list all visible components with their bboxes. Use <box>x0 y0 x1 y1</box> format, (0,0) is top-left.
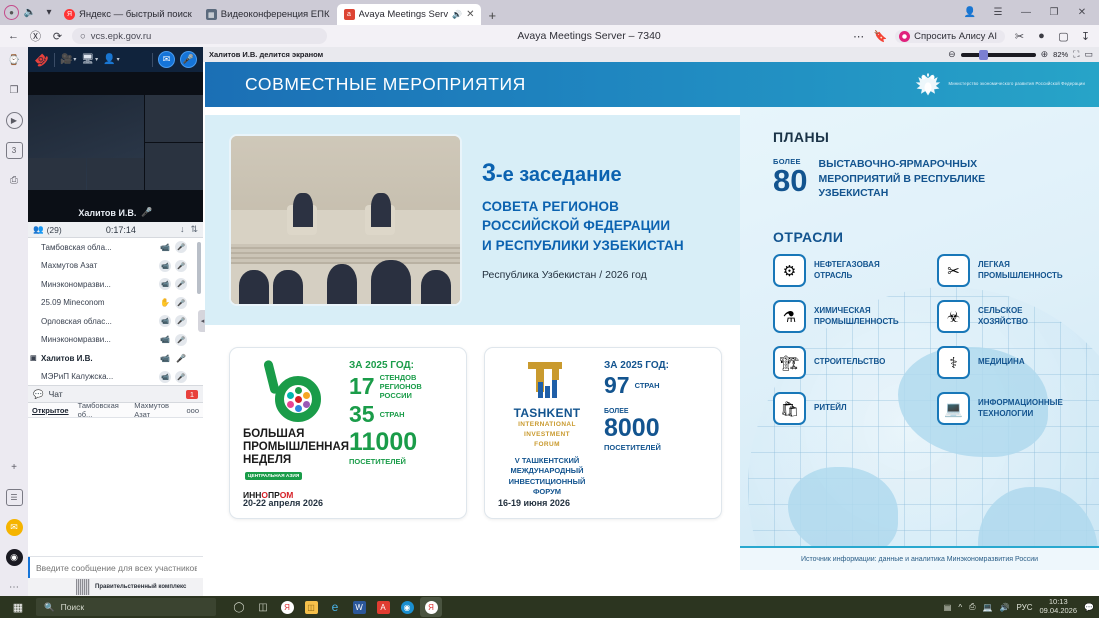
collections-icon[interactable]: ▢ <box>1056 30 1071 43</box>
sidebar-more-icon[interactable]: ⋯ <box>6 579 23 596</box>
participant-list[interactable]: Тамбовская обла... 📹 🎤 Махмутов Азат 📹 🎤… <box>28 238 203 386</box>
chat-tab-1[interactable]: Тамбовская об... <box>78 401 126 419</box>
mute-tab-icon[interactable]: 🔈 <box>22 5 38 21</box>
slide-right-column: ПЛАНЫ БОЛЕЕ 80 ВЫСТАВОЧНО-ЯРМАРОЧНЫХ МЕР… <box>740 107 1099 570</box>
session-title: СОВЕТА РЕГИОНОВ РОССИЙСКОЙ ФЕДЕРАЦИИ И Р… <box>482 197 728 256</box>
internet-explorer-icon[interactable]: e <box>324 597 346 617</box>
chat-messages <box>28 418 203 556</box>
chat-toggle-button[interactable]: ✉ <box>158 51 175 68</box>
screen-share-bar: Халитов И.В. делится экраном ⊖ ⊕ 82% ⛶ ▭ <box>203 47 1099 62</box>
camera-icon: 📹 <box>159 260 171 272</box>
branch-item: ⚙ НЕФТЕГАЗОВАЯ ОТРАСЛЬ <box>773 254 929 287</box>
list-item-self[interactable]: ▣ Халитов И.В. 📹 🎤 <box>28 349 203 368</box>
video-tile-2[interactable] <box>145 95 203 142</box>
construction-icon: 🏗 <box>773 346 806 379</box>
screen-share-control[interactable]: 🖥 ▾ <box>81 54 98 65</box>
innoprom-badge: ЦЕНТРАЛЬНАЯ АЗИЯ <box>245 472 302 480</box>
ministry-name: Министерство экономического развития Рос… <box>949 81 1085 87</box>
camera-icon: 📹 <box>159 371 171 383</box>
stat-number: 11000 <box>349 429 456 457</box>
search-icon: 🔍 <box>44 602 55 613</box>
mic-icon: 🎤 <box>175 260 187 272</box>
address-bar[interactable]: ○ vcs.epk.gov.ru <box>72 28 327 44</box>
browser-tab-1[interactable]: ▦ Видеоконференция ЕПК <box>199 4 337 25</box>
stat-row: 11000 ПОСЕТИТЕЛЕЙ <box>349 429 456 466</box>
branch-item: ⚗ ХИМИЧЕСКАЯ ПРОМЫШЛЕННОСТЬ <box>773 300 929 333</box>
profile-avatar[interactable]: ● <box>4 5 19 20</box>
chat-input[interactable] <box>28 557 203 578</box>
mic-toggle-button[interactable]: 🎤 <box>180 51 197 68</box>
branch-label: РИТЕЙЛ <box>814 403 847 413</box>
branch-item: 💻 ИНФОРМАЦИОННЫЕ ТЕХНОЛОГИИ <box>937 392 1093 425</box>
stat-number: 8000 <box>604 415 711 443</box>
yandex-browser-active-icon[interactable]: Я <box>420 597 442 617</box>
gov-emblem-icon <box>76 579 90 595</box>
list-item[interactable]: Орловская облас... 📹 🎤 <box>28 312 203 331</box>
event-date: 16-19 июня 2026 <box>498 498 570 508</box>
event-card-innoprom: БОЛЬШАЯ ПРОМЫШЛЕННАЯ НЕДЕЛЯ ЦЕНТРАЛЬНАЯ … <box>229 347 467 519</box>
roster-scrollbar[interactable] <box>197 242 201 294</box>
tashkent-logo-sub: INTERNATIONAL INVESTMENT FORUM <box>498 420 596 449</box>
list-item[interactable]: Минэкономразви... 📹 🎤 <box>28 275 203 294</box>
hangup-icon[interactable]: ☎ <box>31 49 51 69</box>
taskbar-search[interactable]: 🔍 Поиск <box>36 598 216 616</box>
browser-tab-bar: ● 🔈 ▾ Я Яндекс — быстрый поиск ▦ Видеоко… <box>0 0 1099 25</box>
tab-count-icon[interactable]: 3 <box>6 142 23 159</box>
list-item[interactable]: 25.09 Mineconom ✋ 🎤 <box>28 294 203 313</box>
yandex-home-icon[interactable]: Ⓧ <box>28 28 43 44</box>
stat-row: 97 СТРАН <box>604 373 711 398</box>
participant-count-label: (29) <box>47 225 62 235</box>
source-note: Источник информации: данные и аналитика … <box>740 546 1099 570</box>
clock-date: 09.04.2026 <box>1039 606 1077 615</box>
tashkent-title-ru: V ТАШКЕНТСКИЙ МЕЖДУНАРОДНЫЙ ИНВЕСТИЦИОНН… <box>498 456 596 497</box>
chemistry-icon: ⚗ <box>773 300 806 333</box>
tashkent-forum-logo: TASHKENT INTERNATIONAL INVESTMENT FORUM … <box>498 360 596 497</box>
innoprom-logo: БОЛЬШАЯ ПРОМЫШЛЕННАЯ НЕДЕЛЯ ЦЕНТРАЛЬНАЯ … <box>243 360 341 500</box>
browser-sidebar: ⌚ ❐ ▶ 3 ⎙ + ☰ ✉ ◉ ⋯ <box>0 47 28 596</box>
double-eagle-icon <box>914 71 942 99</box>
chat-tab-2[interactable]: Махмутов Азат <box>134 401 177 419</box>
camera-icon: 📹 <box>159 334 171 346</box>
gov-complex-popup[interactable]: Правительственный комплекс <box>28 578 203 596</box>
innoprom-stats: ЗА 2025 ГОД: 17 СТЕНДОВ РЕГИОНОВ РОССИИ … <box>349 360 456 500</box>
list-item[interactable]: МЭРиП Калужска... 📹 🎤 <box>28 368 203 387</box>
word-icon[interactable]: W <box>348 597 370 617</box>
camera-icon: 📹 <box>159 241 171 253</box>
plans-section: ПЛАНЫ БОЛЕЕ 80 ВЫСТАВОЧНО-ЯРМАРОЧНЫХ МЕР… <box>740 107 1099 201</box>
stat-row: БОЛЕЕ 8000 ПОСЕТИТЕЛЕЙ <box>604 408 711 452</box>
slide-header: СОВМЕСТНЫЕ МЕРОПРИЯТИЯ Министерство экон… <box>205 62 1099 107</box>
chat-unread-badge: 1 <box>186 390 198 399</box>
list-item[interactable]: Махмутов Азат 📹 🎤 <box>28 257 203 276</box>
language-indicator[interactable]: РУС <box>1016 603 1032 612</box>
mail-icon[interactable]: ✉ <box>6 519 23 536</box>
camera-icon: 🎥 <box>60 54 72 65</box>
browser-tab-2[interactable]: a Avaya Meetings Serv 🔊 ✕ <box>337 4 482 25</box>
browser-tab-0[interactable]: Я Яндекс — быстрый поиск <box>57 4 199 25</box>
new-tab-button[interactable]: + <box>481 8 503 25</box>
mic-icon: 🎤 <box>141 207 152 218</box>
zoom-slider[interactable] <box>961 53 1036 57</box>
nav-right-controls: ⋯ 🔖 Спросить Алису AI ✂ ● ▢ ↧ <box>851 30 1093 43</box>
clock[interactable]: 10:13 09.04.2026 <box>1039 598 1077 615</box>
page-title: Avaya Meetings Server – 7340 <box>334 30 844 42</box>
stat-row: 17 СТЕНДОВ РЕГИОНОВ РОССИИ <box>349 373 456 400</box>
system-tray: ▤ ^ ⎙ 💻 🔊 РУС 10:13 09.04.2026 💬 <box>944 598 1099 615</box>
retail-icon: 🛍 <box>773 392 806 425</box>
event-cards: БОЛЬШАЯ ПРОМЫШЛЕННАЯ НЕДЕЛЯ ЦЕНТРАЛЬНАЯ … <box>205 325 740 519</box>
browser-tab-2-label: Avaya Meetings Serv <box>359 9 449 20</box>
window-controls: 👤 ☰ — ❐ ✕ <box>957 0 1099 25</box>
session-place-year: Республика Узбекистан / 2026 год <box>482 269 728 281</box>
mic-icon: 🎤 <box>175 297 187 309</box>
plans-number: 80 <box>773 166 807 195</box>
close-icon[interactable]: ✕ <box>466 9 474 20</box>
maximize-button[interactable]: ❐ <box>1041 2 1067 24</box>
tab-bar-left-controls: ● 🔈 ▾ <box>0 0 57 25</box>
url-text: vcs.epk.gov.ru <box>91 31 152 42</box>
branch-item: ✂ ЛЕГКАЯ ПРОМЫШЛЕННОСТЬ <box>937 254 1093 287</box>
branch-label: ИНФОРМАЦИОННЫЕ ТЕХНОЛОГИИ <box>978 398 1063 419</box>
alice-button[interactable]: Спросить Алису AI <box>895 30 1005 43</box>
taskbar-apps: ◯ ◫ Я ◫ e W A ◉ Я <box>228 597 442 617</box>
fit-screen-icon[interactable]: ⛶ <box>1073 49 1079 60</box>
stat-label: СТРАН <box>380 410 405 419</box>
session-photo <box>229 134 462 306</box>
tashkent-mark-icon <box>516 360 578 402</box>
downloads-icon[interactable]: ↧ <box>1078 30 1093 43</box>
branch-item: ☣ СЕЛЬСКОЕ ХОЗЯЙСТВО <box>937 300 1093 333</box>
video-play-icon[interactable]: ▶ <box>6 112 23 129</box>
chevron-down-icon: ▾ <box>117 56 120 63</box>
yandex-icon: Я <box>64 9 75 20</box>
branch-label: НЕФТЕГАЗОВАЯ ОТРАСЛЬ <box>814 260 880 281</box>
session-number-suffix: -е заседание <box>496 164 622 186</box>
zoom-slider-thumb[interactable] <box>979 50 988 60</box>
video-tile-5[interactable] <box>87 158 145 190</box>
browser-tab-0-label: Яндекс — быстрый поиск <box>79 9 192 20</box>
participants-control[interactable]: 👤 ▾ <box>103 54 119 65</box>
video-stage[interactable]: Халитов И.В. 🎤 <box>28 72 203 222</box>
session-headline: 3-е заседание СОВЕТА РЕГИОНОВ РОССИЙСКОЙ… <box>482 159 728 282</box>
ministry-logo: Министерство экономического развития Рос… <box>914 71 1085 99</box>
alice-assistant-icon[interactable]: ◉ <box>6 549 23 566</box>
chat-input-wrap <box>28 556 203 578</box>
raise-hand-icon: ✋ <box>159 297 171 309</box>
site-info-icon: ○ <box>80 31 86 42</box>
branch-label: СЕЛЬСКОЕ ХОЗЯЙСТВО <box>978 306 1028 327</box>
stat-label: ПОСЕТИТЕЛЕЙ <box>349 457 456 466</box>
avaya-icon: a <box>344 9 355 20</box>
roster-header: 👥 (29) 0:17:14 ↓ ⇅ <box>28 222 203 238</box>
participant-name: Орловская облас... <box>41 317 155 326</box>
self-marker-icon: ▣ <box>30 354 37 362</box>
chevron-down-icon: ▾ <box>95 56 98 63</box>
share-notice: Халитов И.В. делится экраном <box>209 50 323 59</box>
stat-row: 35 СТРАН <box>349 402 456 427</box>
session-number: 3 <box>482 159 496 187</box>
participant-name: МЭРиП Калужска... <box>41 372 155 381</box>
fullscreen-icon[interactable]: ▭ <box>1084 49 1093 60</box>
chat-icon: 💬 <box>33 389 44 400</box>
session-number-line: 3-е заседание <box>482 159 728 188</box>
participants-icon: 👥 <box>33 224 44 235</box>
alice-label: Спросить Алису AI <box>914 31 997 42</box>
screen: ● 🔈 ▾ Я Яндекс — быстрый поиск ▦ Видеоко… <box>0 0 1099 618</box>
tray-screen-icon[interactable]: ⎙ <box>969 602 975 612</box>
zoom-in-icon[interactable]: ⊕ <box>1041 49 1049 60</box>
camera-icon: 📹 <box>159 315 171 327</box>
slide-left-column: 3-е заседание СОВЕТА РЕГИОНОВ РОССИЙСКОЙ… <box>205 107 740 570</box>
edge-icon[interactable]: ◉ <box>396 597 418 617</box>
participant-name: Минэкономразви... <box>41 335 155 344</box>
branch-label: ХИМИЧЕСКАЯ ПРОМЫШЛЕННОСТЬ <box>814 306 899 327</box>
stat-number: 97 <box>604 373 630 398</box>
list-item[interactable]: Минэкономразви... 📹 🎤 <box>28 331 203 350</box>
chat-title: Чат <box>49 389 63 399</box>
sewing-machine-icon: ✂ <box>937 254 970 287</box>
event-date: 20-22 апреля 2026 <box>243 498 323 508</box>
yandex-browser-icon[interactable]: Я <box>276 597 298 617</box>
history-icon[interactable]: ⌚ <box>6 52 23 69</box>
tab-audio-icon[interactable]: 🔊 <box>452 10 462 19</box>
meeting-toolbar: ☎ 🎥 ▾ 🖥 ▾ 👤 ▾ ✉ 🎤 <box>28 47 203 72</box>
notes-icon[interactable]: ☰ <box>6 489 23 506</box>
search-placeholder: Поиск <box>61 602 85 612</box>
mic-icon: 🎤 <box>175 278 187 290</box>
chevron-down-icon: ▾ <box>73 56 76 63</box>
branch-item: 🛍 РИТЕЙЛ <box>773 392 929 425</box>
participant-name: Халитов И.В. <box>41 354 155 363</box>
reload-icon[interactable]: ⟳ <box>50 30 65 43</box>
video-tile-4[interactable] <box>28 158 86 190</box>
notifications-icon[interactable]: 💬 <box>1084 603 1094 612</box>
sort-icon[interactable]: ⇅ <box>190 224 198 235</box>
stat-label: СТЕНДОВ РЕГИОНОВ РОССИИ <box>380 373 422 400</box>
tabs-stack-icon[interactable]: ❐ <box>6 82 23 99</box>
video-tile-6[interactable] <box>145 158 203 190</box>
agriculture-icon: ☣ <box>937 300 970 333</box>
camera-icon: 📹 <box>159 278 171 290</box>
tab-list-chevron-icon[interactable]: ▾ <box>41 5 57 21</box>
chat-tab-more[interactable]: ооо <box>186 406 199 415</box>
gov-complex-label: Правительственный комплекс <box>95 584 186 591</box>
mic-icon: 🎤 <box>175 352 187 364</box>
shield-icon[interactable]: ● <box>1034 30 1049 42</box>
branch-label: ЛЕГКАЯ ПРОМЫШЛЕННОСТЬ <box>978 260 1063 281</box>
it-icon: 💻 <box>937 392 970 425</box>
account-icon[interactable]: 👤 <box>957 2 983 24</box>
more-options-icon[interactable]: ⋯ <box>851 30 866 43</box>
share-zoom-controls: ⊖ ⊕ 82% ⛶ ▭ <box>948 49 1093 60</box>
participant-name: Минэкономразви... <box>41 280 155 289</box>
mic-icon: 🎤 <box>175 315 187 327</box>
participant-icon: 👤 <box>103 54 115 65</box>
session-block: 3-е заседание СОВЕТА РЕГИОНОВ РОССИЙСКОЙ… <box>205 115 740 325</box>
branch-item: ⚕ МЕДИЦИНА <box>937 346 1093 379</box>
list-item[interactable]: Тамбовская обла... 📹 🎤 <box>28 238 203 257</box>
branches-grid: ⚙ НЕФТЕГАЗОВАЯ ОТРАСЛЬ ✂ ЛЕГКАЯ ПРОМЫШЛЕ… <box>773 254 1093 425</box>
mic-icon: 🎤 <box>175 241 187 253</box>
scissors-icon[interactable]: ✂ <box>1012 30 1027 43</box>
active-speaker-bar: Халитов И.В. 🎤 <box>28 207 203 218</box>
stat-number: 35 <box>349 402 375 427</box>
file-explorer-icon[interactable]: ◫ <box>300 597 322 617</box>
stat-label: ПОСЕТИТЕЛЕЙ <box>604 443 711 452</box>
mic-icon: 🎤 <box>175 371 187 383</box>
screenshot-icon[interactable]: ⎙ <box>6 172 23 189</box>
bookmark-icon[interactable]: 🔖 <box>873 30 888 43</box>
camera-control[interactable]: 🎥 ▾ <box>60 54 76 65</box>
tray-app-icon[interactable]: ▤ <box>944 603 952 612</box>
tashkent-stats: ЗА 2025 ГОД: 97 СТРАН БОЛЕЕ 8000 ПОСЕТИТ… <box>604 360 711 497</box>
tashkent-logo-title: TASHKENT <box>498 406 596 420</box>
menu-icon[interactable]: ☰ <box>985 2 1011 24</box>
active-speaker-name: Халитов И.В. <box>78 208 136 218</box>
stat-heading: ЗА 2025 ГОД: <box>349 360 456 371</box>
plans-heading: ПЛАНЫ <box>773 129 1085 145</box>
innoprom-title: БОЛЬШАЯ ПРОМЫШЛЕННАЯ НЕДЕЛЯ <box>243 428 341 468</box>
chat-icon: ✉ <box>163 54 171 65</box>
participant-name: Тамбовская обла... <box>41 243 155 252</box>
acrobat-icon[interactable]: A <box>372 597 394 617</box>
filter-icon[interactable]: ↓ <box>180 224 185 235</box>
windows-start-icon[interactable]: ▦ <box>0 596 36 618</box>
volume-icon[interactable]: 🔊 <box>999 603 1009 612</box>
browser-tab-1-label: Видеоконференция ЕПК <box>221 9 330 20</box>
task-view-icon[interactable]: ◫ <box>252 597 274 617</box>
chat-tabs: Открытое Тамбовская об... Махмутов Азат … <box>28 403 203 418</box>
plans-text: ВЫСТАВОЧНО-ЯРМАРОЧНЫХ МЕРОПРИЯТИЙ В РЕСП… <box>818 157 985 201</box>
cortana-icon[interactable]: ◯ <box>228 597 250 617</box>
slide-title: СОВМЕСТНЫЕ МЕРОПРИЯТИЯ <box>245 74 526 95</box>
branch-label: МЕДИЦИНА <box>978 357 1025 367</box>
participant-count: 👥 (29) <box>33 224 62 235</box>
video-row-bottom <box>28 158 203 190</box>
mic-icon: 🎤 <box>183 54 194 65</box>
screen-share-icon: 🖥 <box>81 54 94 65</box>
branches-heading: ОТРАСЛИ <box>773 229 1099 245</box>
meeting-timer: 0:17:14 <box>62 225 180 235</box>
stat-number: 17 <box>349 374 375 399</box>
presentation-slide: СОВМЕСТНЫЕ МЕРОПРИЯТИЯ Министерство экон… <box>205 62 1099 570</box>
stat-heading: ЗА 2025 ГОД: <box>604 360 711 371</box>
document-icon: ▦ <box>206 9 217 20</box>
meeting-panel: ☎ 🎥 ▾ 🖥 ▾ 👤 ▾ ✉ 🎤 <box>28 47 203 596</box>
branch-item: 🏗 СТРОИТЕЛЬСТВО <box>773 346 929 379</box>
zoom-level-label: 82% <box>1053 50 1068 59</box>
minimize-button[interactable]: — <box>1013 2 1039 24</box>
close-window-button[interactable]: ✕ <box>1069 2 1095 24</box>
show-hidden-icons-icon[interactable]: ^ <box>958 603 962 612</box>
windows-taskbar: ▦ 🔍 Поиск ◯ ◫ Я ◫ e W A ◉ Я ▤ ^ ⎙ 💻 🔊 РУ… <box>0 596 1099 618</box>
zoom-out-icon[interactable]: ⊖ <box>948 49 956 60</box>
participant-name: Махмутов Азат <box>41 261 155 270</box>
network-icon[interactable]: 💻 <box>983 603 993 612</box>
back-icon[interactable]: ← <box>6 30 21 42</box>
branch-label: СТРОИТЕЛЬСТВО <box>814 357 885 367</box>
medicine-icon: ⚕ <box>937 346 970 379</box>
add-service-icon[interactable]: + <box>6 459 23 476</box>
oil-gas-icon: ⚙ <box>773 254 806 287</box>
camera-icon: 📹 <box>159 352 171 364</box>
browser-nav-bar: ← Ⓧ ⟳ ○ vcs.epk.gov.ru Avaya Meetings Se… <box>0 25 1099 47</box>
chat-tab-open[interactable]: Открытое <box>32 406 69 415</box>
stat-label: СТРАН <box>635 381 660 390</box>
slide-body: 3-е заседание СОВЕТА РЕГИОНОВ РОССИЙСКОЙ… <box>205 107 1099 570</box>
mic-icon: 🎤 <box>175 334 187 346</box>
alice-icon <box>899 31 910 42</box>
participant-name: 25.09 Mineconom <box>41 298 155 307</box>
event-card-tashkent: TASHKENT INTERNATIONAL INVESTMENT FORUM … <box>484 347 722 519</box>
